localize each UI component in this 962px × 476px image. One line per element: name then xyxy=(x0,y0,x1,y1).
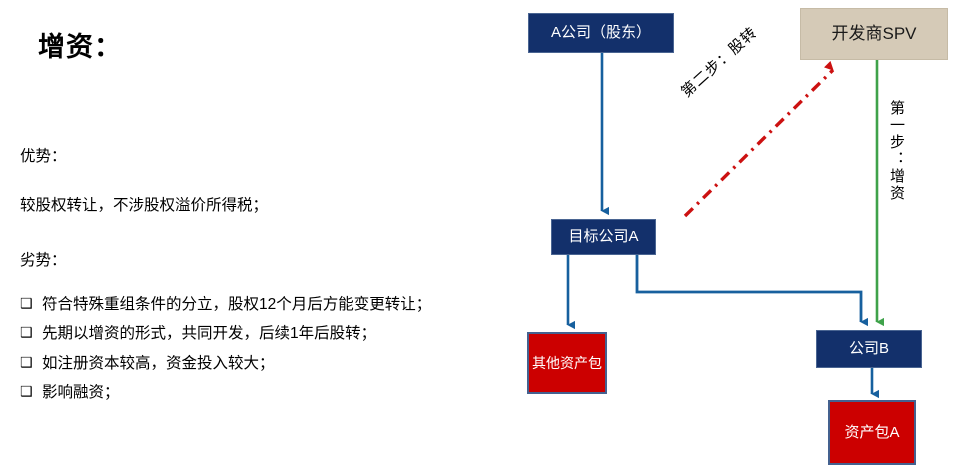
node-asset-pack-a[interactable]: 资产包A xyxy=(828,400,916,465)
node-other-asset-pack[interactable]: 其他资产包 xyxy=(527,332,607,394)
connector-step2-share-transfer xyxy=(685,70,833,216)
node-company-b[interactable]: 公司B xyxy=(816,330,922,368)
slide-canvas: 增资： 优势： 较股权转让，不涉股权溢价所得税； 劣势： ❑ 符合特殊重组条件的… xyxy=(0,0,962,476)
node-target-company-a[interactable]: 目标公司A xyxy=(551,219,656,255)
label-step-one: 第一步：增资 xyxy=(886,100,907,202)
diagram-connectors xyxy=(0,0,962,476)
node-a-company[interactable]: A公司（股东） xyxy=(528,13,674,53)
node-developer-spv[interactable]: 开发商SPV xyxy=(800,8,948,60)
connector-target-to-company-b xyxy=(637,255,861,322)
